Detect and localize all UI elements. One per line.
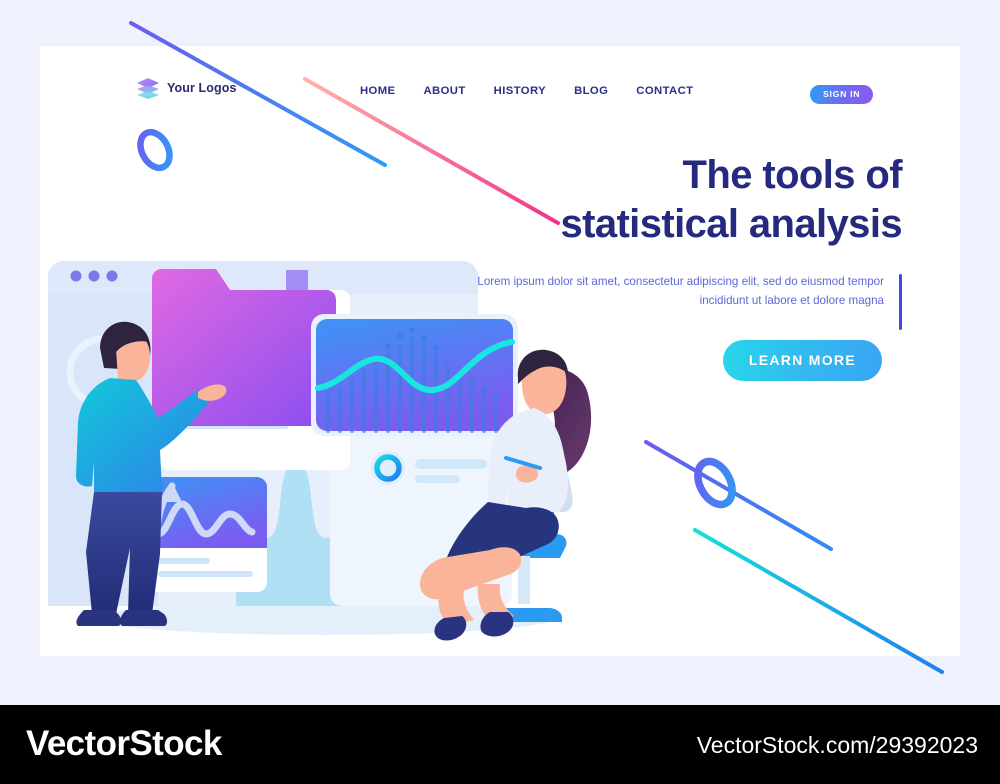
deco-line-pink	[305, 79, 558, 223]
decorative-shapes	[0, 0, 1000, 784]
footer-brand: VectorStock	[26, 724, 222, 764]
footer-bar: VectorStock VectorStock.com/29392023	[0, 705, 1000, 784]
deco-line-purple	[646, 442, 831, 549]
deco-line-cyan	[695, 530, 942, 672]
footer-url: VectorStock.com/29392023	[697, 732, 978, 759]
screenshot-root: Your Logos HOME ABOUT HISTORY BLOG CONTA…	[0, 0, 1000, 784]
deco-ring-small	[135, 127, 176, 173]
